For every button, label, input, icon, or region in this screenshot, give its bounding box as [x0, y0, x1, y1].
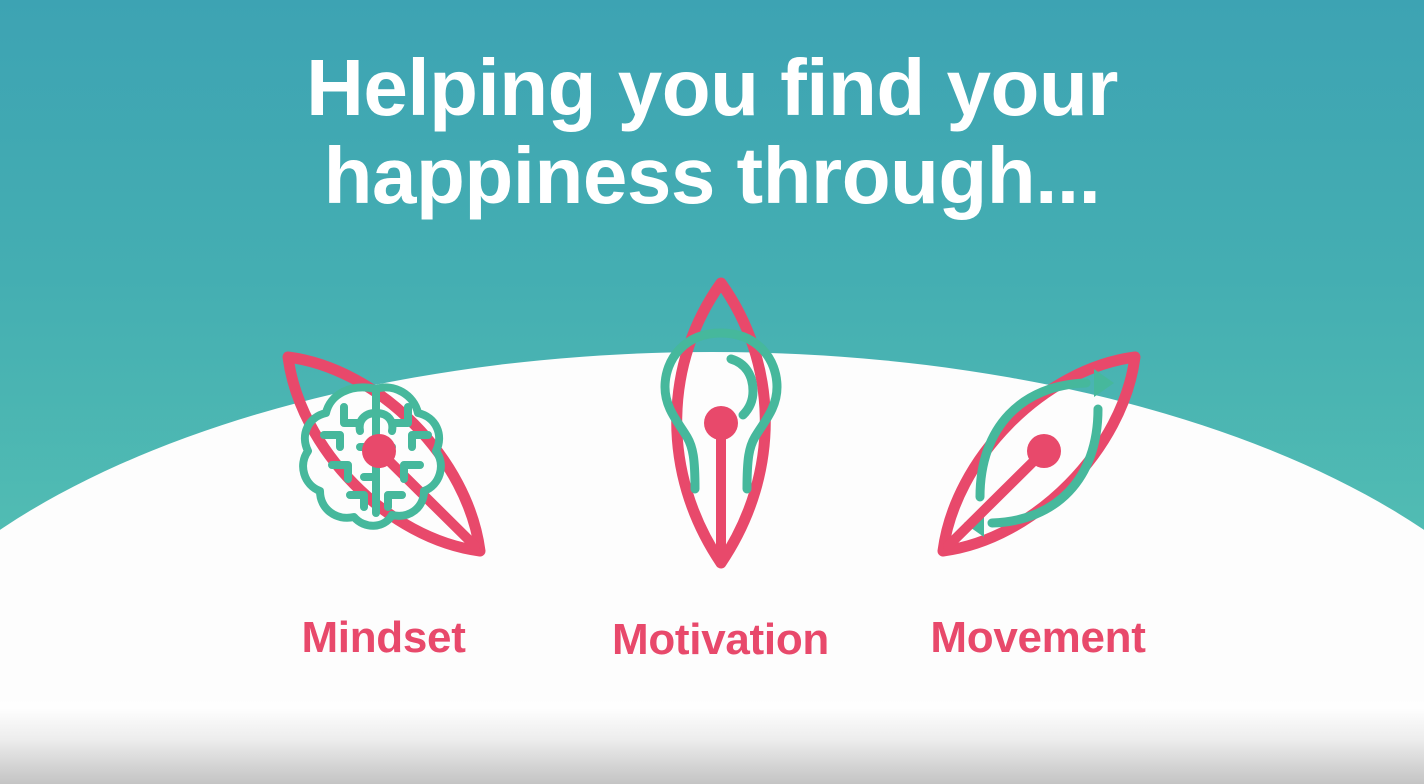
leaf-lightbulb-icon: [631, 275, 811, 571]
pillar-label-movement: Movement: [930, 613, 1145, 663]
headline-line-2: happiness through...: [0, 132, 1424, 220]
pillar-label-motivation: Motivation: [612, 615, 829, 665]
leaf-brain-icon: [272, 343, 496, 565]
center-dot-icon: [1027, 434, 1061, 468]
pillar-motivation[interactable]: Motivation: [606, 275, 836, 665]
center-dot-icon: [362, 434, 396, 468]
pillar-label-mindset: Mindset: [301, 613, 465, 663]
pillars-row: Mindset Motivation: [0, 275, 1424, 675]
bottom-letterbox-band: [0, 698, 1424, 784]
leaf-arrows-icon: [926, 343, 1151, 565]
headline-line-1: Helping you find your: [0, 44, 1424, 132]
arrowhead-right-icon: [1094, 369, 1114, 397]
page-title: Helping you find your happiness through.…: [0, 44, 1424, 220]
pillar-movement[interactable]: Movement: [906, 275, 1171, 663]
center-dot-icon: [704, 406, 738, 440]
pillar-mindset[interactable]: Mindset: [254, 275, 514, 663]
slide-canvas: Helping you find your happiness through.…: [0, 0, 1424, 784]
